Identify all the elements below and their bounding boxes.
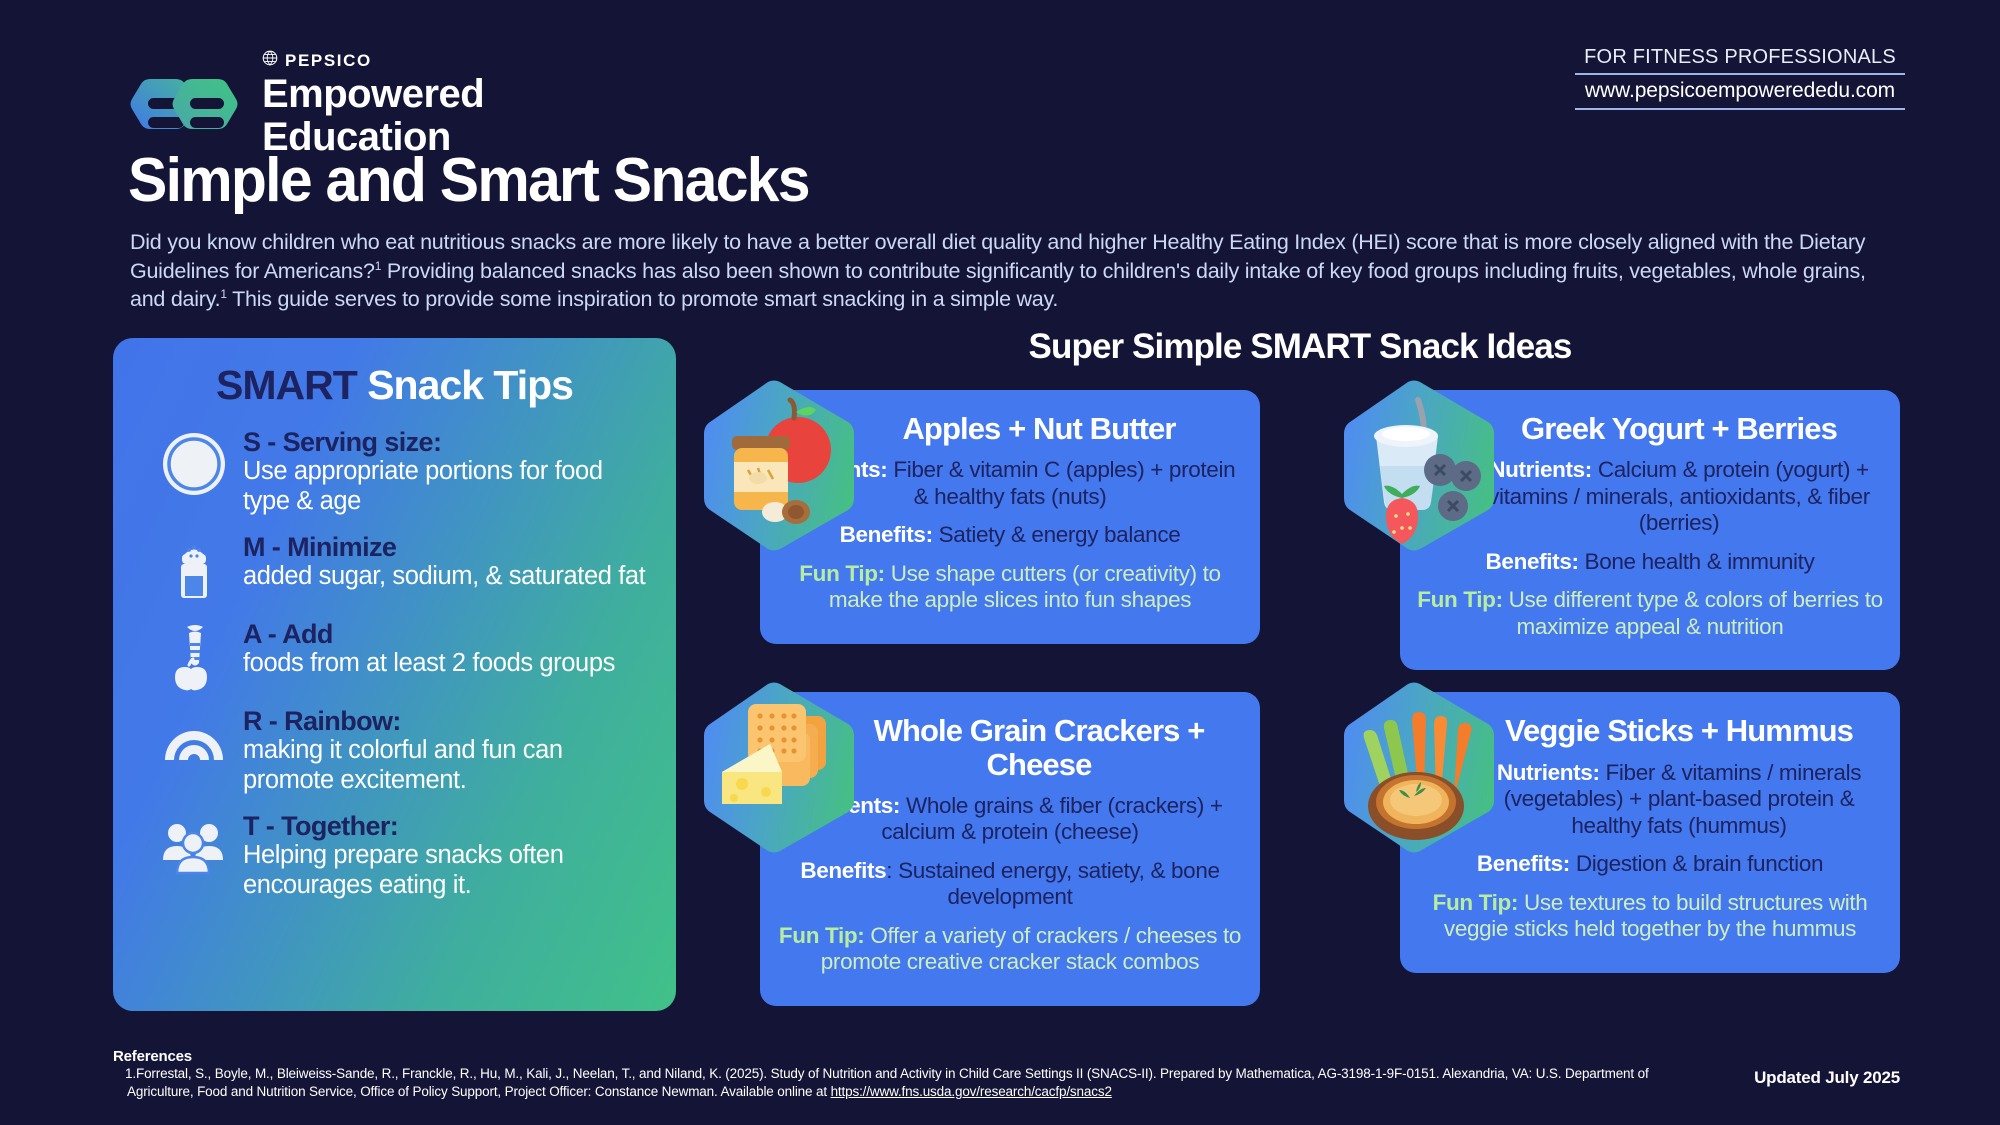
nutrients-value: Fiber & vitamin C (apples) + protein & h… [887, 457, 1235, 509]
audience-label: FOR FITNESS PROFESSIONALS [1575, 46, 1905, 73]
reference-entry: 1.Forrestal, S., Boyle, M., Bleiweiss-Sa… [113, 1065, 1673, 1101]
intro-paragraph: Did you know children who eat nutritious… [130, 228, 1875, 314]
veggie-hummus-icon [1340, 680, 1500, 855]
nutrients-label: Nutrients: [1489, 457, 1592, 482]
card-funtip-line: Fun Tip: Use different type & colors of … [1416, 587, 1884, 640]
tips-title-rest: Snack Tips [357, 362, 573, 408]
benefits-value: Satiety & energy balance [933, 522, 1181, 547]
updated-date: Updated July 2025 [1754, 1068, 1900, 1088]
tip-description: added sugar, sodium, & saturated fat [243, 562, 645, 590]
tip-text: S - Serving size: Use appropriate portio… [243, 425, 654, 517]
nutrients-value: Whole grains & fiber (crackers) + calciu… [881, 793, 1222, 845]
yogurt-berries-icon [1340, 378, 1500, 553]
funtip-label: Fun Tip: [1417, 587, 1503, 612]
card-funtip-line: Fun Tip: Use textures to build structure… [1416, 890, 1884, 943]
funtip-label: Fun Tip: [799, 561, 885, 586]
header: PEPSICO Empowered Education FOR FITNESS … [0, 30, 2000, 160]
snack-card-apples-nut-butter[interactable]: Apples + Nut Butter Nutrients: Fiber & v… [700, 390, 1260, 670]
funtip-value: Offer a variety of crackers / cheeses to… [821, 923, 1241, 975]
tip-item-rainbow: R - Rainbow: making it colorful and fun … [135, 704, 654, 796]
intro-part3: This guide serves to provide some inspir… [227, 287, 1058, 311]
funtip-value: Use different type & colors of berries t… [1503, 587, 1883, 639]
tip-heading: T - Together: [243, 811, 398, 841]
empowered-education-logo [128, 63, 244, 145]
tip-text: T - Together: Helping prepare snacks oft… [243, 809, 654, 901]
reference-link[interactable]: https://www.fns.usda.gov/research/cacfp/… [831, 1084, 1112, 1099]
benefits-value: Bone health & immunity [1579, 549, 1815, 574]
rainbow-icon [157, 704, 231, 778]
benefits-value: : Sustained energy, satiety, & bone deve… [886, 858, 1219, 910]
tips-title-accent: SMART [216, 362, 357, 408]
salt-shaker-icon [157, 530, 231, 604]
card-funtip-line: Fun Tip: Use shape cutters (or creativit… [776, 561, 1244, 614]
page-title: Simple and Smart Snacks [128, 145, 809, 216]
tip-description: Helping prepare snacks often encourages … [243, 841, 564, 899]
infographic-page: PEPSICO Empowered Education FOR FITNESS … [0, 0, 2000, 1125]
benefits-label: Benefits [800, 858, 886, 883]
brand-lockup: PEPSICO Empowered Education [128, 50, 484, 159]
funtip-label: Fun Tip: [1433, 890, 1519, 915]
crackers-cheese-icon [700, 680, 860, 855]
tip-item-add: A - Add foods from at least 2 foods grou… [135, 617, 654, 691]
tip-heading: A - Add [243, 619, 333, 649]
tip-heading: R - Rainbow: [243, 706, 401, 736]
tip-description: foods from at least 2 foods groups [243, 649, 615, 677]
tip-item-serving-size: S - Serving size: Use appropriate portio… [135, 425, 654, 517]
tip-text: M - Minimize added sugar, sodium, & satu… [243, 530, 645, 592]
tips-panel-title: SMART Snack Tips [135, 362, 654, 409]
divider-bottom [1575, 108, 1905, 110]
nutrients-label: Nutrients: [1497, 760, 1600, 785]
snack-card-veggie-hummus[interactable]: Veggie Sticks + Hummus Nutrients: Fiber … [1340, 692, 1900, 1006]
brand-text: PEPSICO Empowered Education [262, 50, 484, 159]
tip-text: A - Add foods from at least 2 foods grou… [243, 617, 615, 679]
header-right-block: FOR FITNESS PROFESSIONALS www.pepsicoemp… [1575, 46, 1905, 110]
reference-number: 1. [125, 1066, 136, 1081]
brand-name-line1: Empowered [262, 72, 484, 116]
references-block: References 1.Forrestal, S., Boyle, M., B… [113, 1048, 1673, 1101]
plate-icon [157, 425, 231, 499]
smart-snack-tips-panel: SMART Snack Tips S - Serving size: Use a… [113, 338, 676, 1011]
tip-description: Use appropriate portions for food type &… [243, 457, 603, 515]
funtip-label: Fun Tip: [779, 923, 865, 948]
tip-item-minimize: M - Minimize added sugar, sodium, & satu… [135, 530, 654, 604]
apple-nut-butter-icon [700, 378, 860, 553]
snack-ideas-grid: Apples + Nut Butter Nutrients: Fiber & v… [700, 390, 1900, 1006]
references-heading: References [113, 1048, 1673, 1065]
people-group-icon [157, 809, 231, 883]
pepsico-globe-icon [262, 50, 278, 71]
card-benefits-line: Benefits: Sustained energy, satiety, & b… [776, 858, 1244, 911]
card-row-bottom: Whole Grain Crackers + Cheese Nutrients:… [700, 692, 1900, 1006]
tip-heading: M - Minimize [243, 532, 396, 562]
pepsico-label: PEPSICO [285, 51, 372, 71]
tip-item-together: T - Together: Helping prepare snacks oft… [135, 809, 654, 901]
snack-card-crackers-cheese[interactable]: Whole Grain Crackers + Cheese Nutrients:… [700, 692, 1260, 1006]
carrot-apple-icon [157, 617, 231, 691]
funtip-value: Use shape cutters (or creativity) to mak… [829, 561, 1221, 613]
pepsico-lockup: PEPSICO [262, 50, 484, 71]
benefits-value: Digestion & brain function [1570, 851, 1823, 876]
snack-card-greek-yogurt-berries[interactable]: Greek Yogurt + Berries Nutrients: Calciu… [1340, 390, 1900, 670]
card-funtip-line: Fun Tip: Offer a variety of crackers / c… [776, 923, 1244, 976]
card-row-top: Apples + Nut Butter Nutrients: Fiber & v… [700, 390, 1900, 670]
tip-text: R - Rainbow: making it colorful and fun … [243, 704, 654, 796]
ideas-section-title: Super Simple SMART Snack Ideas [700, 327, 1900, 367]
tip-description: making it colorful and fun can promote e… [243, 736, 563, 794]
tip-heading: S - Serving size: [243, 427, 441, 457]
website-url[interactable]: www.pepsicoempowerededu.com [1575, 75, 1905, 108]
